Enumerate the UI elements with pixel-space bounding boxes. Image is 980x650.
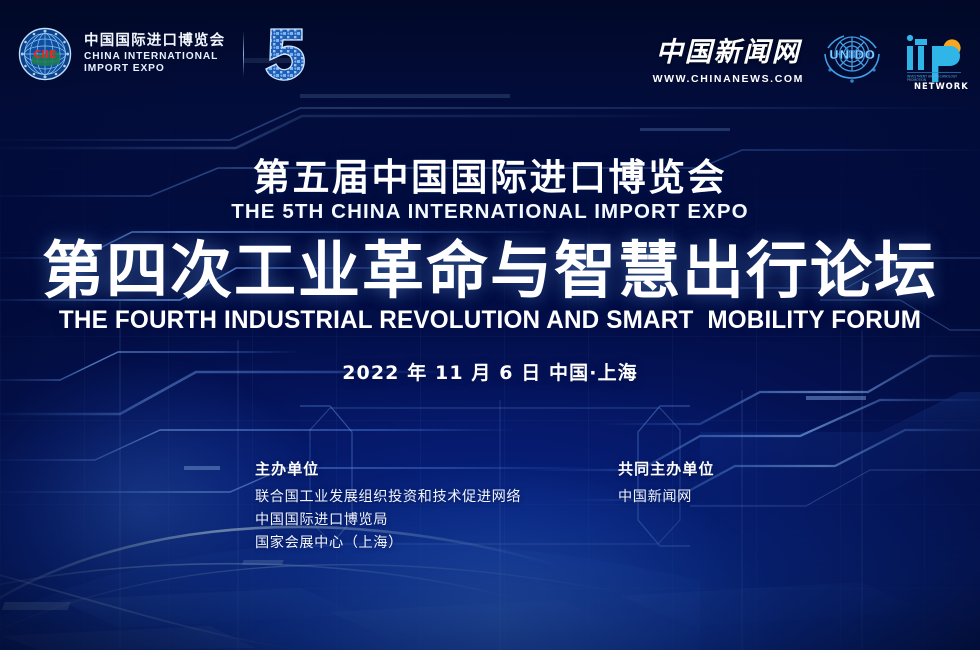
cohost-line: 中国新闻网 (618, 486, 715, 509)
event-dateline: 2022 年 11 月 6 日 中国·上海 (0, 358, 980, 385)
cohost-organizers-block: 共同主办单位 中国新闻网 (618, 458, 715, 509)
chinanews-url: WWW.CHINANEWS.COM (653, 73, 804, 85)
host-heading: 主办单位 (255, 458, 521, 479)
header-left-logos: CIIE 中国国际进口博览会 CHINA INTERNATIONAL IMPOR… (18, 25, 310, 83)
svg-text:CIIE: CIIE (34, 49, 57, 61)
expo-title-en: THE 5TH CHINA INTERNATIONAL IMPORT EXPO (0, 200, 980, 224)
header-divider (243, 31, 244, 77)
ciie-globe-emblem-icon: CIIE (18, 27, 72, 81)
cohost-heading: 共同主办单位 (618, 458, 715, 479)
host-organizers-block: 主办单位 联合国工业发展组织投资和技术促进网络 中国国际进口博览局 国家会展中心… (255, 458, 521, 555)
unido-logo-icon: UNIDO (816, 26, 888, 88)
header: CIIE 中国国际进口博览会 CHINA INTERNATIONAL IMPOR… (0, 0, 980, 108)
ciie-name-en-line1: CHINA INTERNATIONAL (84, 52, 225, 63)
forum-title-en: THE FOURTH INDUSTRIAL REVOLUTION AND SMA… (15, 306, 966, 335)
chinanews-logo: 中国新闻网 WWW.CHINANEWS.COM (653, 30, 804, 85)
host-line: 中国国际进口博览局 (255, 509, 521, 532)
itp-network-logo-icon: INVESTMENT AND TECHNOLOGY PROMOTION NETW… (900, 24, 970, 90)
ciie-name-cn: 中国国际进口博览会 (84, 34, 225, 49)
fifth-edition-badge-icon (262, 25, 310, 83)
unido-wordmark: UNIDO (829, 47, 875, 62)
expo-title-cn: 第五届中国国际进口博览会 (0, 147, 980, 201)
host-line: 联合国工业发展组织投资和技术促进网络 (255, 486, 521, 509)
header-right-logos: 中国新闻网 WWW.CHINANEWS.COM (653, 24, 970, 90)
chinanews-name-cn: 中国新闻网 (656, 30, 801, 69)
forum-banner: CIIE 中国国际进口博览会 CHINA INTERNATIONAL IMPOR… (0, 0, 980, 650)
ciie-name-en-line2: IMPORT EXPO (84, 64, 225, 75)
forum-title-cn: 第四次工业革命与智慧出行论坛 (0, 238, 980, 305)
ciie-logo-text: 中国国际进口博览会 CHINA INTERNATIONAL IMPORT EXP… (84, 34, 225, 75)
itp-network-label: NETWORK (914, 81, 969, 90)
host-line: 国家会展中心（上海） (255, 532, 521, 555)
